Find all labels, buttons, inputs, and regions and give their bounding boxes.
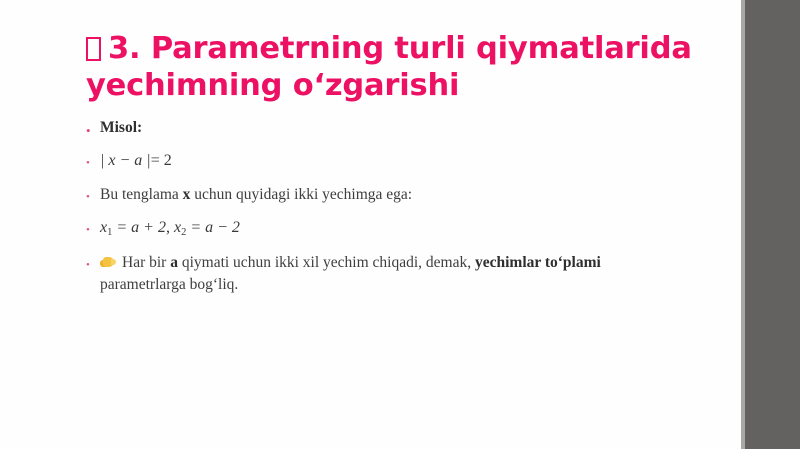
bullet-item-conclusion: • Har bir a qiymati uchun ikki xil yechi… <box>86 252 686 296</box>
bullet-text-explanation: Bu tenglama x uchun quyidagi ikki yechim… <box>100 184 686 206</box>
bullet-text-solutions: x1 = a + 2, x2 = a − 2 <box>100 217 686 241</box>
conclusion-suffix: parametrlarga bog‘liq. <box>100 276 238 293</box>
bullet-item-explanation: • Bu tenglama x uchun quyidagi ikki yech… <box>86 184 686 206</box>
bullet-item-solutions: • x1 = a + 2, x2 = a − 2 <box>86 217 686 241</box>
presentation-slide: 3. Parametrning turli qiymatlarida yechi… <box>0 0 800 449</box>
misol-label: Misol: <box>100 119 142 136</box>
bullet-text-equation: | x − a |= 2 <box>100 150 686 173</box>
solution-1-value: = a + 2 <box>116 219 166 236</box>
bullet-item-misol: • Misol: <box>86 117 686 139</box>
slide-body: • Misol: • | x − a |= 2 • Bu tenglama x … <box>86 117 686 307</box>
equation-right-side: 2 <box>164 152 172 169</box>
bullet-text-conclusion: Har bir a qiymati uchun ikki xil yechim … <box>100 252 686 296</box>
equation-relation: = <box>151 152 160 169</box>
bullet-marker-icon: • <box>86 217 100 236</box>
slide-title: 3. Parametrning turli qiymatlarida yechi… <box>86 30 706 104</box>
conclusion-term: yechimlar to‘plami <box>475 254 601 271</box>
right-side-panel <box>745 0 800 449</box>
solution-2-variable: x <box>174 219 181 236</box>
explanation-suffix: uchun quyidagi ikki yechimga ega: <box>190 186 412 203</box>
bullet-text-misol: Misol: <box>100 117 686 139</box>
bullet-marker-icon: • <box>86 184 100 203</box>
bullet-marker-icon: • <box>86 252 100 271</box>
solution-2-subscript: 2 <box>181 227 186 238</box>
bullet-marker-icon: • <box>86 117 100 137</box>
pointing-hand-icon <box>100 255 116 269</box>
conclusion-middle: qiymati uchun ikki xil yechim chiqadi, d… <box>178 254 475 271</box>
solution-2-value: = a − 2 <box>190 219 240 236</box>
title-line-2: yechimning o‘zgarishi <box>86 68 459 103</box>
solution-separator: , <box>166 219 170 236</box>
slide-canvas: 3. Parametrning turli qiymatlarida yechi… <box>0 0 742 449</box>
title-line-1: 3. Parametrning turli qiymatlarida <box>108 31 692 66</box>
bullet-marker-icon: • <box>86 150 100 169</box>
conclusion-parameter: a <box>170 254 178 271</box>
solution-1-subscript: 1 <box>107 227 112 238</box>
bullet-item-equation: • | x − a |= 2 <box>86 150 686 173</box>
missing-glyph-box-icon <box>86 37 101 61</box>
equation-absolute-value: | x − a | <box>100 152 151 169</box>
explanation-prefix: Bu tenglama <box>100 186 183 203</box>
conclusion-prefix: Har bir <box>122 254 170 271</box>
